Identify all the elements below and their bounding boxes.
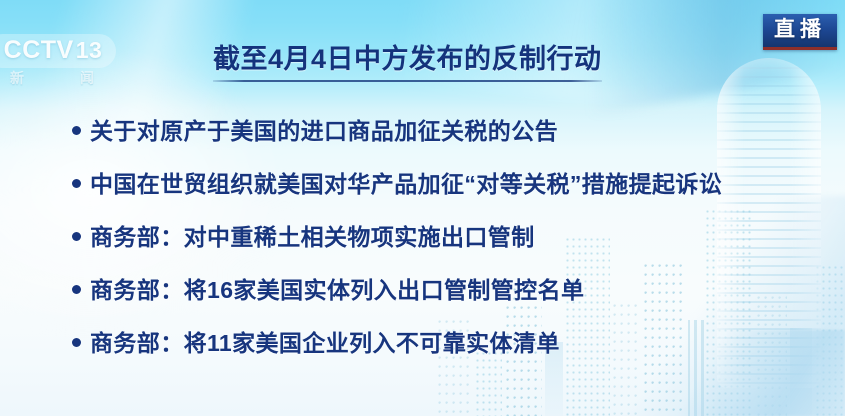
bullet-dot-icon [72,179,81,188]
logo-network-text: CCTV [4,36,74,64]
bullet-dot-icon [72,126,81,135]
list-item-label: 中国在世贸组织就美国对华产品加征“对等关税”措施提起诉讼 [90,170,722,198]
list-item: 关于对原产于美国的进口商品加征关税的公告 [72,104,832,157]
list-item-label: 商务部：对中重稀土相关物项实施出口管制 [90,223,535,251]
logo-sub-char-2: 闻 [80,68,94,88]
list-item: 商务部：对中重稀土相关物项实施出口管制 [72,210,832,263]
cctv13-channel-logo: CCTV13 新 闻 [0,32,122,94]
logo-sub-label: 新 闻 [10,68,94,88]
list-item: 商务部：将16家美国实体列入出口管制管控名单 [72,263,832,316]
list-item: 中国在世贸组织就美国对华产品加征“对等关税”措施提起诉讼 [72,157,832,210]
list-item-label: 商务部：将11家美国企业列入不可靠实体清单 [90,329,560,357]
live-badge: 直播 [763,14,837,50]
list-item-label: 商务部：将16家美国实体列入出口管制管控名单 [90,276,584,304]
bullet-dot-icon [72,338,81,347]
headline-block: 截至4月4日中方发布的反制行动 [213,42,602,82]
list-item-label: 关于对原产于美国的进口商品加征关税的公告 [90,117,558,145]
bullet-dot-icon [72,232,81,241]
logo-wordmark: CCTV13 [0,35,116,65]
broadcast-graphic-screen: CCTV13 新 闻 直播 截至4月4日中方发布的反制行动 关于对原产于美国的进… [0,0,845,416]
measures-list: 关于对原产于美国的进口商品加征关税的公告 中国在世贸组织就美国对华产品加征“对等… [72,104,832,369]
list-item: 商务部：将11家美国企业列入不可靠实体清单 [72,316,832,369]
bullet-dot-icon [72,285,81,294]
page-title: 截至4月4日中方发布的反制行动 [213,42,602,76]
logo-sub-char-1: 新 [10,68,24,88]
live-badge-label: 直播 [774,18,826,42]
logo-channel-number: 13 [76,37,103,63]
headline-underline [213,80,602,82]
